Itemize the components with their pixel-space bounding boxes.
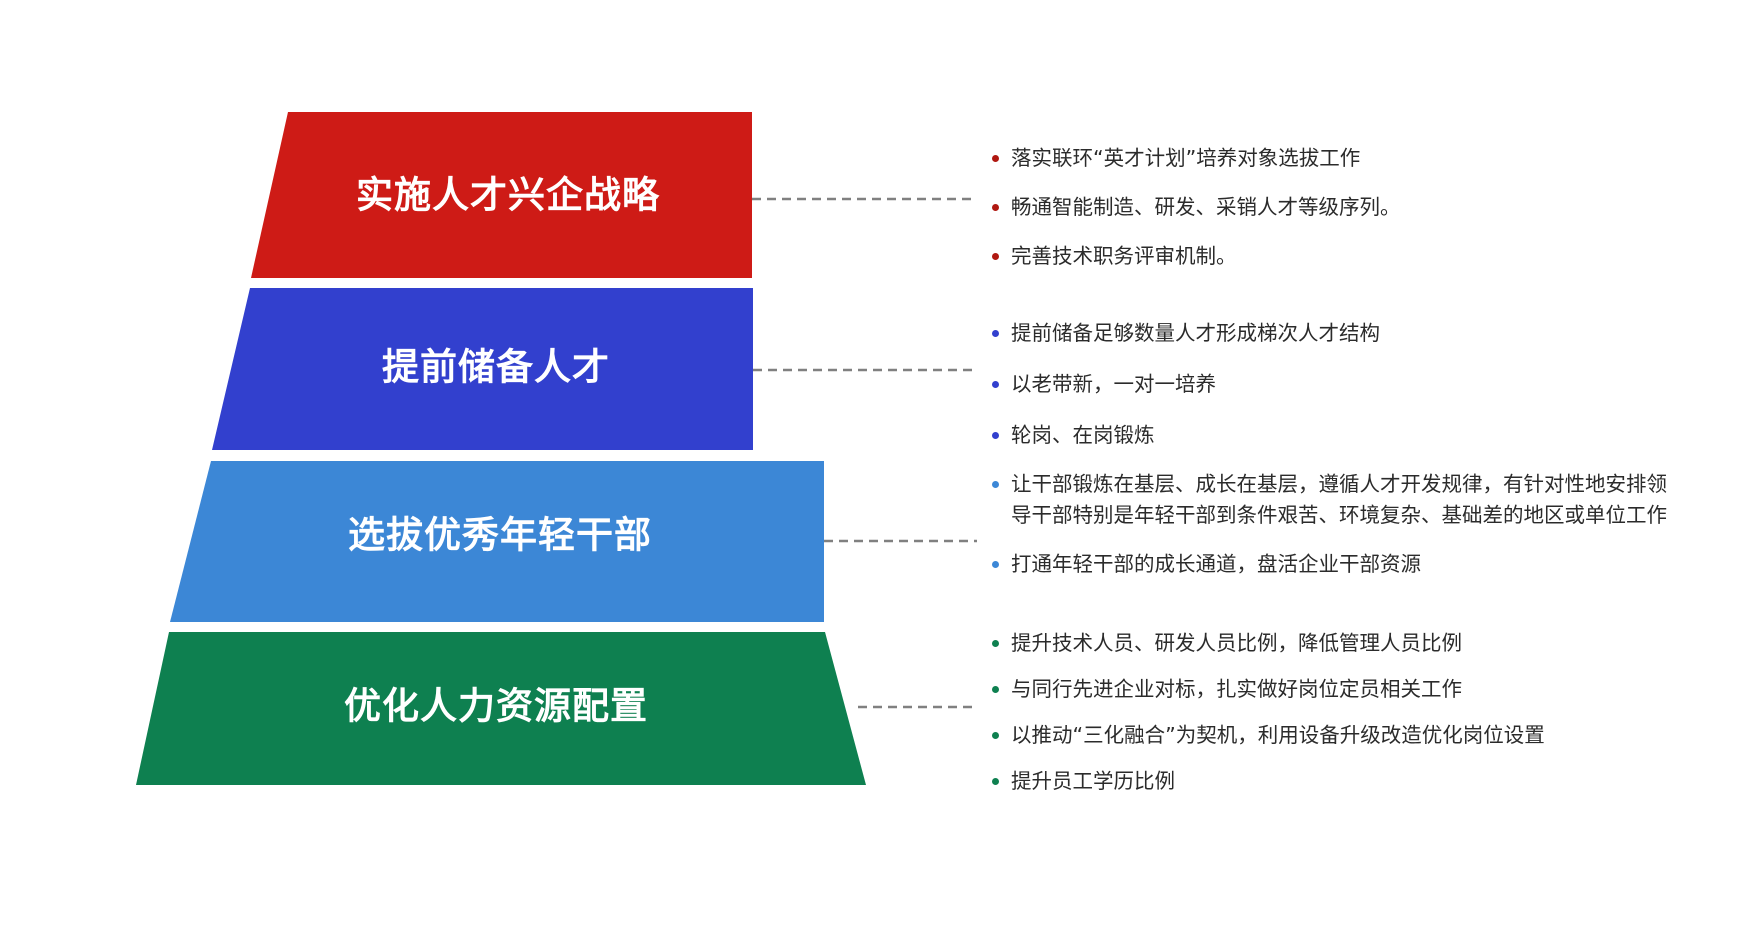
list-item: 畅通智能制造、研发、采销人才等级序列。 — [992, 192, 1401, 223]
list-item: 提升员工学历比例 — [992, 766, 1545, 797]
bullet-marker-icon — [992, 640, 999, 647]
list-item: 与同行先进企业对标，扎实做好岗位定员相关工作 — [992, 674, 1545, 705]
pyramid-diagram: 实施人才兴企战略 提前储备人才 选拔优秀年轻干部 优化人力资源配置 落实联环“英… — [0, 0, 1743, 932]
list-item: 以老带新，一对一培养 — [992, 369, 1380, 400]
pyramid-tier-3-label: 选拔优秀年轻干部 — [348, 514, 652, 557]
detail-group-3: 让干部锻炼在基层、成长在基层，遵循人才开发规律，有针对性地安排领导干部特别是年轻… — [992, 469, 1671, 598]
bullet-marker-icon — [992, 253, 999, 260]
pyramid-tier-2-label: 提前储备人才 — [382, 346, 610, 389]
list-item: 落实联环“英才计划”培养对象选拔工作 — [992, 143, 1401, 174]
bullet-text: 以老带新，一对一培养 — [1011, 369, 1216, 400]
list-item: 提前储备足够数量人才形成梯次人才结构 — [992, 318, 1380, 349]
list-item: 以推动“三化融合”为契机，利用设备升级改造优化岗位设置 — [992, 720, 1545, 751]
list-item: 完善技术职务评审机制。 — [992, 241, 1401, 272]
bullet-marker-icon — [992, 561, 999, 568]
detail-group-4: 提升技术人员、研发人员比例，降低管理人员比例 与同行先进企业对标，扎实做好岗位定… — [992, 628, 1545, 812]
bullet-marker-icon — [992, 481, 999, 488]
pyramid-tier-1-label: 实施人才兴企战略 — [356, 174, 660, 217]
bullet-text: 落实联环“英才计划”培养对象选拔工作 — [1011, 143, 1360, 174]
bullet-text: 让干部锻炼在基层、成长在基层，遵循人才开发规律，有针对性地安排领导干部特别是年轻… — [1011, 469, 1671, 531]
bullet-marker-icon — [992, 204, 999, 211]
list-item: 打通年轻干部的成长通道，盘活企业干部资源 — [992, 549, 1671, 580]
bullet-text: 完善技术职务评审机制。 — [1011, 241, 1237, 272]
bullet-text: 与同行先进企业对标，扎实做好岗位定员相关工作 — [1011, 674, 1462, 705]
bullet-marker-icon — [992, 330, 999, 337]
bullet-marker-icon — [992, 732, 999, 739]
bullet-text: 轮岗、在岗锻炼 — [1011, 420, 1155, 451]
bullet-text: 打通年轻干部的成长通道，盘活企业干部资源 — [1011, 549, 1421, 580]
bullet-marker-icon — [992, 155, 999, 162]
bullet-marker-icon — [992, 686, 999, 693]
bullet-text: 畅通智能制造、研发、采销人才等级序列。 — [1011, 192, 1401, 223]
bullet-text: 提升员工学历比例 — [1011, 766, 1175, 797]
detail-group-1: 落实联环“英才计划”培养对象选拔工作 畅通智能制造、研发、采销人才等级序列。 完… — [992, 143, 1401, 290]
detail-group-2: 提前储备足够数量人才形成梯次人才结构 以老带新，一对一培养 轮岗、在岗锻炼 — [992, 318, 1380, 471]
bullet-marker-icon — [992, 381, 999, 388]
pyramid-tier-4-label: 优化人力资源配置 — [344, 685, 648, 728]
bullet-text: 提前储备足够数量人才形成梯次人才结构 — [1011, 318, 1380, 349]
bullet-marker-icon — [992, 432, 999, 439]
list-item: 轮岗、在岗锻炼 — [992, 420, 1380, 451]
bullet-marker-icon — [992, 778, 999, 785]
list-item: 让干部锻炼在基层、成长在基层，遵循人才开发规律，有针对性地安排领导干部特别是年轻… — [992, 469, 1671, 531]
list-item: 提升技术人员、研发人员比例，降低管理人员比例 — [992, 628, 1545, 659]
bullet-text: 以推动“三化融合”为契机，利用设备升级改造优化岗位设置 — [1011, 720, 1545, 751]
bullet-text: 提升技术人员、研发人员比例，降低管理人员比例 — [1011, 628, 1462, 659]
